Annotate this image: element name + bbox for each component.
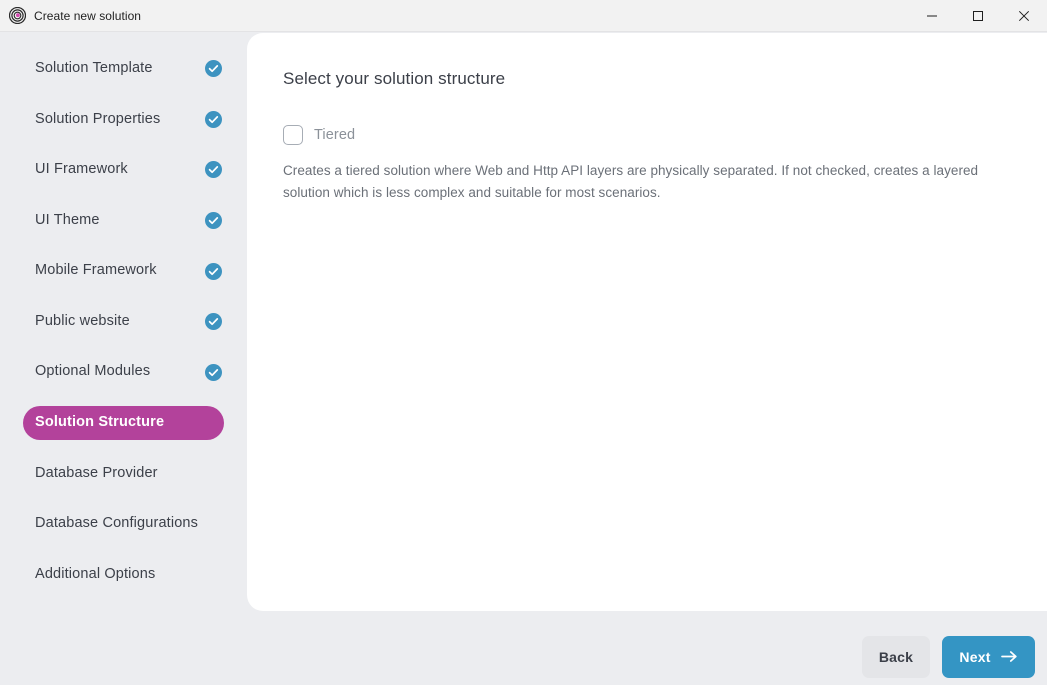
sidebar-item-label: Solution Structure: [35, 413, 212, 433]
tiered-checkbox[interactable]: [283, 125, 303, 145]
arrow-right-icon: [1001, 650, 1018, 663]
sidebar-item-label: Mobile Framework: [35, 261, 185, 281]
step-complete-check-icon: [195, 313, 212, 330]
sidebar-item-label: Database Configurations: [35, 514, 212, 534]
maximize-button[interactable]: [955, 0, 1001, 32]
sidebar-item-additional-options[interactable]: Additional Options: [23, 558, 224, 592]
step-complete-check-icon: [195, 161, 212, 178]
title-bar-left: Create new solution: [0, 7, 909, 24]
sidebar-item-solution-template[interactable]: Solution Template: [23, 52, 224, 86]
sidebar-item-solution-structure[interactable]: Solution Structure: [23, 406, 224, 440]
title-bar: Create new solution: [0, 0, 1047, 32]
sidebar-item-label: Optional Modules: [35, 362, 185, 382]
sidebar-item-public-website[interactable]: Public website: [23, 305, 224, 339]
sidebar-item-database-provider[interactable]: Database Provider: [23, 457, 224, 491]
window-title: Create new solution: [34, 9, 141, 23]
back-button[interactable]: Back: [862, 636, 930, 678]
wizard-step-sidebar: Solution Template Solution Properties: [0, 32, 247, 685]
next-button[interactable]: Next: [942, 636, 1035, 678]
tiered-checkbox-label[interactable]: Tiered: [314, 127, 355, 143]
minimize-button[interactable]: [909, 0, 955, 32]
next-button-label: Next: [959, 649, 990, 665]
page-title: Select your solution structure: [283, 69, 1007, 89]
sidebar-item-label: Database Provider: [35, 464, 212, 484]
sidebar-item-label: Solution Template: [35, 59, 185, 79]
close-icon: [1018, 10, 1030, 22]
step-complete-check-icon: [195, 111, 212, 128]
solution-structure-panel: Select your solution structure Tiered Cr…: [247, 33, 1047, 611]
window-body: Solution Template Solution Properties: [0, 32, 1047, 685]
sidebar-item-database-configurations[interactable]: Database Configurations: [23, 507, 224, 541]
step-complete-check-icon: [195, 364, 212, 381]
sidebar-item-label: UI Framework: [35, 160, 185, 180]
close-button[interactable]: [1001, 0, 1047, 32]
window-controls: [909, 0, 1047, 32]
tiered-option-row: Tiered: [283, 125, 1007, 145]
sidebar-item-optional-modules[interactable]: Optional Modules: [23, 355, 224, 389]
maximize-icon: [972, 10, 984, 22]
sidebar-item-label: Additional Options: [35, 565, 212, 585]
sidebar-item-mobile-framework[interactable]: Mobile Framework: [23, 254, 224, 288]
sidebar-item-label: Solution Properties: [35, 110, 185, 130]
minimize-icon: [926, 10, 938, 22]
wizard-footer: Back Next: [0, 628, 1047, 685]
sidebar-item-ui-theme[interactable]: UI Theme: [23, 204, 224, 238]
sidebar-item-solution-properties[interactable]: Solution Properties: [23, 103, 224, 137]
step-complete-check-icon: [195, 60, 212, 77]
step-complete-check-icon: [195, 263, 212, 280]
sidebar-item-label: UI Theme: [35, 211, 185, 231]
sidebar-item-ui-framework[interactable]: UI Framework: [23, 153, 224, 187]
create-new-solution-window: Looks like there's... Create new solutio…: [0, 0, 1047, 685]
step-complete-check-icon: [195, 212, 212, 229]
tiered-description: Creates a tiered solution where Web and …: [283, 160, 1007, 204]
abp-logo-icon: [9, 7, 26, 24]
sidebar-item-label: Public website: [35, 312, 185, 332]
